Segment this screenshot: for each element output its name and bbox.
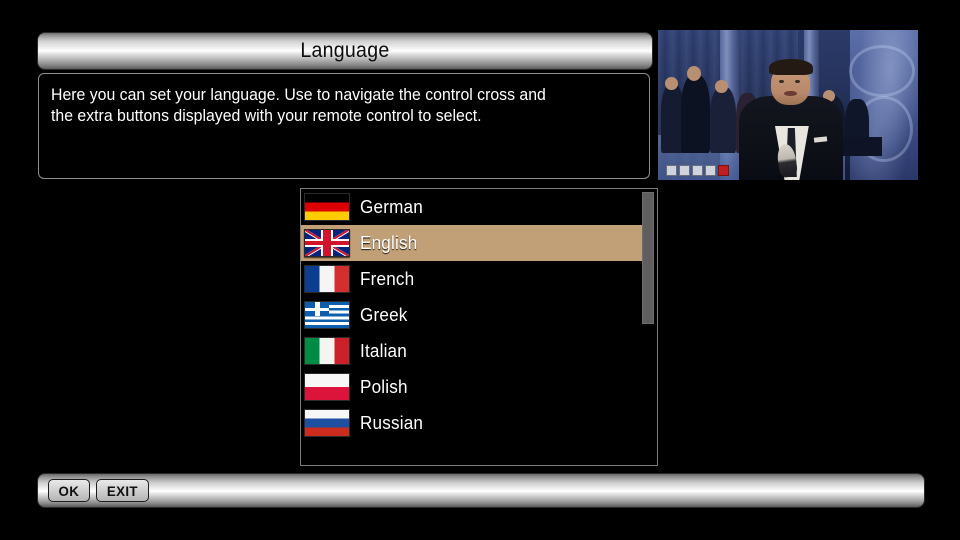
bug-block: [666, 165, 677, 176]
bug-block: [705, 165, 716, 176]
preview-crowd-figure: [710, 87, 736, 153]
ok-button[interactable]: OK: [48, 479, 90, 502]
preview-crowd-head: [665, 77, 678, 91]
channel-logo-bug: [666, 166, 729, 176]
bug-block-red: [718, 165, 729, 176]
list-scrollbar-track[interactable]: [642, 192, 654, 464]
list-item-label: Polish: [360, 377, 408, 398]
flag-italy-icon: [304, 337, 350, 365]
flag-greece-icon: [304, 301, 350, 329]
list-item-label: Italian: [360, 341, 407, 362]
preview-decor-swirl: [849, 45, 915, 97]
preview-crowd-figure: [681, 75, 710, 153]
flag-poland-icon: [304, 373, 350, 401]
exit-button[interactable]: EXIT: [96, 479, 149, 502]
bug-block: [692, 165, 703, 176]
help-text-line-1: Here you can set your language. Use to n…: [51, 85, 614, 106]
help-description-panel: Here you can set your language. Use to n…: [38, 73, 650, 179]
flag-germany-icon: [304, 193, 350, 221]
flag-united-kingdom-icon: [304, 229, 350, 257]
list-item[interactable]: French: [301, 261, 642, 297]
list-item[interactable]: Italian: [301, 333, 642, 369]
page-title: Language: [300, 39, 389, 63]
list-item[interactable]: English: [301, 225, 642, 261]
preview-reporter-eye: [795, 80, 800, 83]
preview-crowd-head: [687, 66, 701, 81]
exit-button-label: EXIT: [107, 483, 138, 499]
list-item-label: Russian: [360, 413, 423, 434]
preview-crowd-head: [715, 80, 728, 94]
list-item[interactable]: Russian: [301, 405, 642, 441]
live-video-preview[interactable]: [658, 30, 918, 180]
list-item[interactable]: German: [301, 189, 642, 225]
flag-russia-icon: [304, 409, 350, 437]
window-title-bar: Language: [38, 33, 652, 69]
preview-reporter-mouth: [784, 91, 797, 96]
list-item[interactable]: Polish: [301, 369, 642, 405]
list-item-label: French: [360, 269, 414, 290]
list-item-label: Greek: [360, 305, 408, 326]
tv-settings-screen: Language Here you can set your language.…: [0, 0, 960, 540]
bug-block: [679, 165, 690, 176]
preview-pocket-square: [814, 136, 827, 142]
list-item-label: English: [360, 233, 417, 254]
list-item[interactable]: Greek: [301, 297, 642, 333]
help-text-line-2: the extra buttons displayed with your re…: [51, 106, 614, 127]
ok-button-label: OK: [59, 483, 80, 499]
list-item-label: German: [360, 197, 423, 218]
softkey-bar: OK EXIT: [38, 474, 924, 507]
flag-france-icon: [304, 265, 350, 293]
preview-reporter-hair: [769, 59, 813, 76]
language-list: German English French Greek: [301, 189, 642, 465]
list-scrollbar-thumb[interactable]: [642, 192, 654, 324]
language-list-panel: German English French Greek: [300, 188, 658, 466]
